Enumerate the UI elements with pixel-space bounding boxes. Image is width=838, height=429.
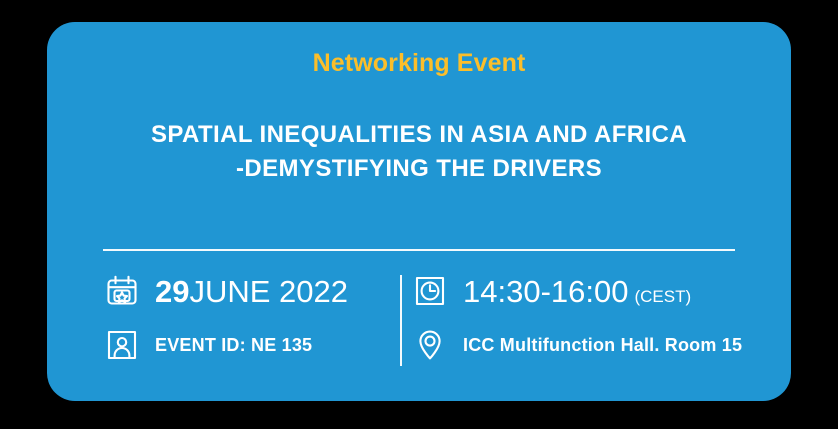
event-id-row: EVENT ID: NE 135 — [103, 324, 393, 366]
event-title: SPATIAL INEQUALITIES IN ASIA AND AFRICA … — [47, 118, 791, 186]
event-date-month-year: JUNE 2022 — [189, 274, 348, 309]
event-time-range: 14:30-16:00 — [463, 274, 628, 309]
event-details: 29JUNE 2022 EVENT ID: NE 135 — [47, 270, 791, 380]
clock-icon — [411, 272, 449, 310]
event-category-label: Networking Event — [47, 50, 791, 78]
event-card: Networking Event SPATIAL INEQUALITIES IN… — [47, 22, 791, 401]
event-location-row: ICC Multifunction Hall. Room 15 — [411, 324, 742, 366]
screenshot-canvas: Networking Event SPATIAL INEQUALITIES IN… — [0, 0, 838, 429]
horizontal-divider — [103, 249, 735, 251]
event-title-line-2: -DEMYSTIFYING THE DRIVERS — [47, 152, 791, 186]
event-id-text: EVENT ID: NE 135 — [155, 336, 312, 354]
map-pin-icon — [411, 326, 449, 364]
event-date-row: 29JUNE 2022 — [103, 270, 393, 312]
event-time-row: 14:30-16:00(CEST) — [411, 270, 742, 312]
details-right-column: 14:30-16:00(CEST) ICC Multifunction Hall… — [411, 270, 742, 366]
event-location-text: ICC Multifunction Hall. Room 15 — [463, 336, 742, 354]
event-date-text: 29JUNE 2022 — [155, 276, 348, 307]
event-time-text: 14:30-16:00(CEST) — [463, 276, 691, 307]
event-title-line-1: SPATIAL INEQUALITIES IN ASIA AND AFRICA — [47, 118, 791, 152]
id-badge-person-icon — [103, 326, 141, 364]
calendar-star-icon — [103, 272, 141, 310]
event-date-day: 29 — [155, 274, 189, 309]
event-timezone: (CEST) — [634, 287, 691, 306]
details-left-column: 29JUNE 2022 EVENT ID: NE 135 — [103, 270, 393, 366]
